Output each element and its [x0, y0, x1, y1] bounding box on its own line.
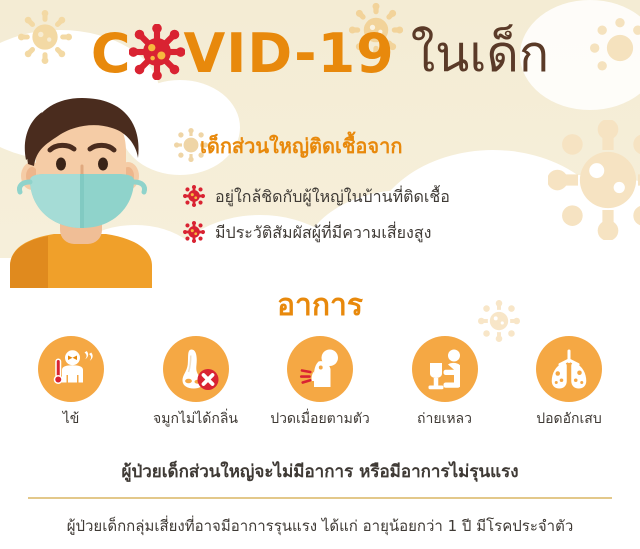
body-ache-icon: [296, 345, 344, 393]
symptom-item: ถ่ายเหลว: [386, 336, 504, 427]
symptom-icon-circle: [412, 336, 478, 402]
title-thai-suffix: ในเด็ก: [411, 29, 549, 79]
virus-icon: [129, 26, 185, 82]
title-covid-suffix: VID-19: [183, 27, 394, 81]
nose-no-smell-icon: [172, 345, 220, 393]
symptom-label: ไข้: [63, 411, 80, 427]
symptom-icon-circle: [287, 336, 353, 402]
title-letter-c: C: [91, 27, 132, 81]
symptoms-heading: อาการ: [0, 282, 640, 329]
list-item: อยู่ใกล้ชิดกับผู้ใหญ่ในบ้านที่ติดเชื้อ: [183, 186, 603, 208]
symptom-item: ปอดอักเสบ: [510, 336, 628, 427]
symptom-icon-circle: [38, 336, 104, 402]
symptom-item: จมูกไม่ได้กลิ่น: [137, 336, 255, 427]
footer-divider: [28, 497, 612, 499]
footer-statement: ผู้ป่วยเด็กส่วนใหญ่จะไม่มีอาการ หรือมีอา…: [0, 458, 640, 485]
symptom-label: ปอดอักเสบ: [536, 411, 602, 427]
fever-thermometer-icon: [47, 345, 95, 393]
symptom-icon-circle: [536, 336, 602, 402]
virus-bullet-icon: [183, 185, 205, 207]
footer-note: ผู้ป่วยเด็กกลุ่มเสี่ยงที่อาจมีอาการรุนแร…: [0, 514, 640, 538]
covid-child-infographic: C: [0, 0, 640, 549]
list-item: มีประวัติสัมผัสผู้ที่มีความเสี่ยงสูง: [183, 222, 603, 244]
symptom-icon-circle: [163, 336, 229, 402]
symptom-label: ถ่ายเหลว: [417, 411, 472, 427]
virus-bullet-icon: [183, 221, 205, 243]
list-item-label: อยู่ใกล้ชิดกับผู้ใหญ่ในบ้านที่ติดเชื้อ: [215, 187, 450, 206]
symptom-item: ไข้: [12, 336, 130, 427]
transmission-list: อยู่ใกล้ชิดกับผู้ใหญ่ในบ้านที่ติดเชื้อ: [183, 186, 603, 258]
title-covid-text: C: [91, 26, 395, 82]
symptom-label: ปวดเมื่อยตามตัว: [270, 411, 370, 427]
symptoms-row: ไข้ จมูกไม่ได้กลิ่น: [12, 336, 628, 427]
symptom-item: ปวดเมื่อยตามตัว: [261, 336, 379, 427]
masked-child-illustration: [2, 88, 167, 288]
lungs-pneumonia-icon: [545, 345, 593, 393]
poster-title: C: [0, 18, 640, 90]
transmission-heading: เด็กส่วนใหญ่ติดเชื้อจาก: [200, 130, 403, 162]
diarrhea-toilet-icon: [421, 345, 469, 393]
symptom-label: จมูกไม่ได้กลิ่น: [153, 411, 238, 427]
list-item-label: มีประวัติสัมผัสผู้ที่มีความเสี่ยงสูง: [215, 223, 431, 242]
